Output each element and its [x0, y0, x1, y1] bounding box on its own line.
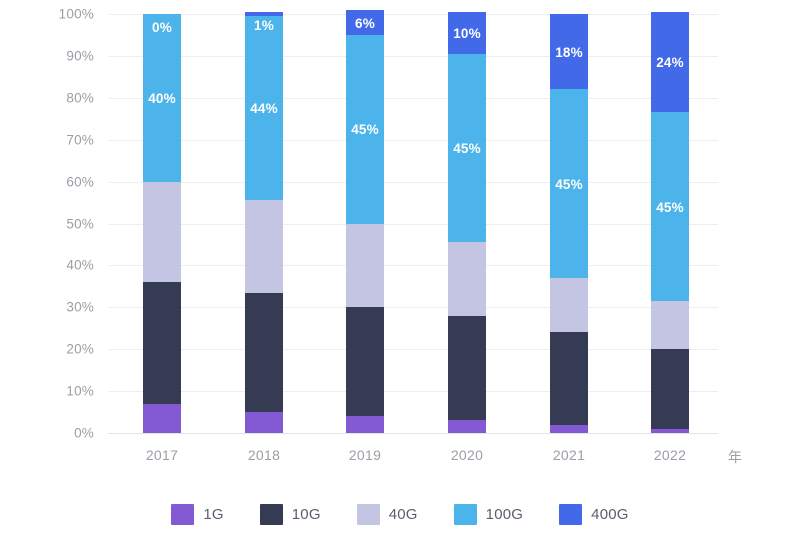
bar-segment-10g[interactable] — [448, 316, 486, 421]
y-axis: 100%90%80%70%60%50%40%30%20%10%0% — [0, 0, 108, 439]
y-axis-tick-label: 10% — [4, 384, 94, 398]
bar-2019[interactable]: 45%6% — [346, 14, 384, 433]
x-axis-tick-label: 2020 — [427, 447, 507, 463]
gridline — [108, 182, 718, 183]
x-axis-tick-label: 2021 — [529, 447, 609, 463]
gridline — [108, 14, 718, 15]
y-axis-tick-label: 20% — [4, 342, 94, 356]
legend-swatch-icon — [357, 504, 380, 525]
bar-segment-400g[interactable] — [346, 10, 384, 35]
legend-label: 1G — [203, 506, 223, 523]
bar-segment-100g[interactable] — [346, 35, 384, 224]
bar-segment-40g[interactable] — [245, 200, 283, 292]
bar-segment-10g[interactable] — [143, 282, 181, 404]
bar-segment-400g[interactable] — [550, 14, 588, 89]
y-axis-tick-label: 40% — [4, 259, 94, 273]
gridline — [108, 349, 718, 350]
bar-segment-400g[interactable] — [245, 12, 283, 16]
gridline — [108, 140, 718, 141]
bar-segment-100g[interactable] — [448, 54, 486, 243]
bar-segment-400g[interactable] — [651, 12, 689, 113]
x-axis-unit-label: 年 — [728, 447, 742, 467]
stacked-bar-chart: 100%90%80%70%60%50%40%30%20%10%0% 40%0%4… — [0, 0, 800, 539]
bar-segment-40g[interactable] — [143, 182, 181, 283]
y-axis-tick-label: 90% — [4, 49, 94, 63]
bar-segment-40g[interactable] — [346, 224, 384, 308]
gridline — [108, 56, 718, 57]
gridline — [108, 307, 718, 308]
bar-segment-100g[interactable] — [651, 112, 689, 301]
chart-legend: 1G10G40G100G400G — [0, 498, 800, 530]
legend-item-100g[interactable]: 100G — [454, 504, 524, 525]
bar-segment-100g[interactable] — [143, 14, 181, 182]
y-axis-tick-label: 50% — [4, 217, 94, 231]
x-axis-tick-label: 2018 — [224, 447, 304, 463]
legend-swatch-icon — [454, 504, 477, 525]
bar-segment-40g[interactable] — [448, 242, 486, 315]
bar-2017[interactable]: 40%0% — [143, 14, 181, 433]
bar-segment-100g[interactable] — [245, 16, 283, 200]
bar-segment-10g[interactable] — [651, 349, 689, 429]
bar-2021[interactable]: 45%18% — [550, 14, 588, 433]
legend-label: 400G — [591, 506, 629, 523]
plot-area: 40%0%44%1%45%6%45%10%45%18%45%24% — [108, 14, 718, 433]
gridline — [108, 265, 718, 266]
bar-segment-1g[interactable] — [245, 412, 283, 433]
y-axis-tick-label: 60% — [4, 175, 94, 189]
bar-segment-1g[interactable] — [448, 420, 486, 433]
legend-swatch-icon — [171, 504, 194, 525]
legend-item-40g[interactable]: 40G — [357, 504, 418, 525]
bar-segment-10g[interactable] — [550, 332, 588, 424]
legend-swatch-icon — [559, 504, 582, 525]
bar-segment-1g[interactable] — [651, 429, 689, 433]
legend-label: 40G — [389, 506, 418, 523]
legend-item-400g[interactable]: 400G — [559, 504, 629, 525]
legend-swatch-icon — [260, 504, 283, 525]
gridline — [108, 224, 718, 225]
gridline — [108, 391, 718, 392]
bar-segment-10g[interactable] — [346, 307, 384, 416]
bar-segment-1g[interactable] — [550, 425, 588, 433]
bar-segment-40g[interactable] — [651, 301, 689, 349]
bar-segment-1g[interactable] — [143, 404, 181, 433]
y-axis-tick-label: 80% — [4, 91, 94, 105]
legend-item-1g[interactable]: 1G — [171, 504, 223, 525]
y-axis-tick-label: 30% — [4, 301, 94, 315]
x-axis-tick-label: 2017 — [122, 447, 202, 463]
bar-segment-1g[interactable] — [346, 416, 384, 433]
bar-2020[interactable]: 45%10% — [448, 14, 486, 433]
bar-2022[interactable]: 45%24% — [651, 14, 689, 433]
gridline — [108, 433, 718, 434]
y-axis-tick-label: 0% — [4, 426, 94, 440]
bar-segment-10g[interactable] — [245, 293, 283, 412]
legend-item-10g[interactable]: 10G — [260, 504, 321, 525]
bar-segment-400g[interactable] — [448, 12, 486, 54]
x-axis: 201720182019202020212022 — [0, 447, 800, 477]
bar-segment-40g[interactable] — [550, 278, 588, 332]
y-axis-tick-label: 100% — [4, 7, 94, 21]
x-axis-tick-label: 2022 — [630, 447, 710, 463]
bar-segment-100g[interactable] — [550, 89, 588, 278]
bar-2018[interactable]: 44%1% — [245, 14, 283, 433]
legend-label: 100G — [486, 506, 524, 523]
x-axis-tick-label: 2019 — [325, 447, 405, 463]
gridline — [108, 98, 718, 99]
legend-label: 10G — [292, 506, 321, 523]
y-axis-tick-label: 70% — [4, 133, 94, 147]
